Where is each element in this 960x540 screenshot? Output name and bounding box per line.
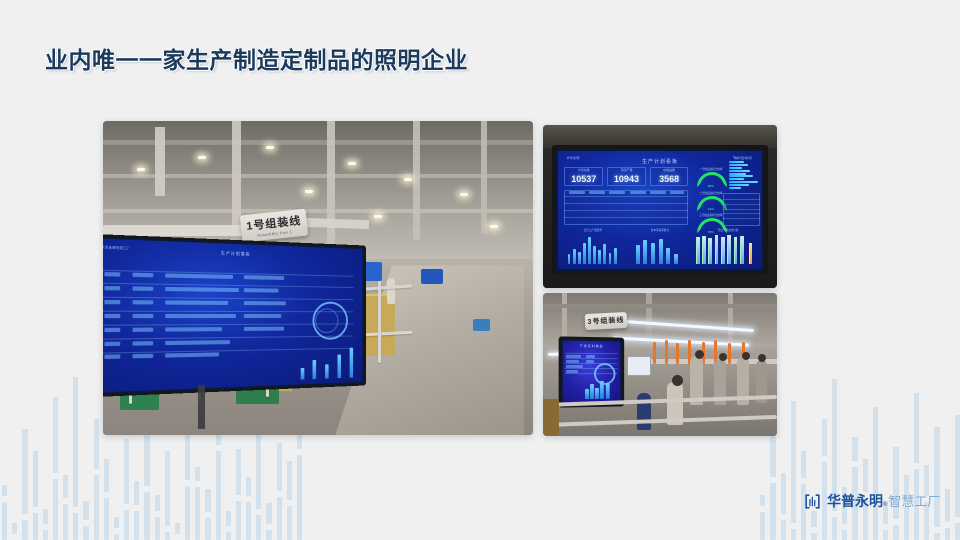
decorative-bar [124, 432, 129, 540]
decorative-bar [246, 470, 251, 540]
chart-right-title: 月度产能达成分析 [697, 228, 760, 232]
decorative-bar [236, 442, 241, 540]
decorative-bar [165, 444, 170, 540]
ceiling-light [374, 215, 382, 218]
decorative-bar [22, 422, 27, 540]
worker-head [672, 375, 683, 386]
kanban-screen: 华普永明 生产计划看板 计划总数 实际产量 在制品数 10537 10943 3… [552, 145, 767, 275]
decorative-bar [73, 370, 78, 540]
ceiling-light [460, 193, 468, 196]
fixture-arm [653, 342, 656, 365]
decorative-bar [33, 444, 38, 540]
hbar-title: 物料齐套率排行 [725, 156, 762, 160]
blue-crate [473, 319, 490, 332]
decorative-bar [893, 440, 898, 540]
kpi-value: 3568 [650, 174, 689, 184]
fixture-arm [728, 343, 731, 364]
decorative-bar [852, 430, 857, 540]
page-title: 业内唯一一家生产制造定制品的照明企业 [45, 41, 468, 75]
slide-canvas: 业内唯一一家生产制造定制品的照明企业 [0, 0, 960, 540]
kpi-label: 在制品数 [650, 168, 689, 172]
decorative-bar [134, 474, 139, 540]
decorative-bar [914, 386, 919, 540]
fixture-arm [676, 343, 679, 364]
decorative-bar [832, 372, 837, 540]
line-dashboard-screen: 产线实时看板 [559, 337, 624, 408]
worker-head [742, 352, 750, 360]
kpi-value: 10943 [607, 174, 646, 184]
decorative-bar [216, 424, 221, 540]
ceiling-light [404, 178, 412, 181]
worker-head [719, 353, 727, 361]
decorative-bar [781, 466, 786, 540]
ceiling-light [137, 168, 145, 171]
ceiling-light [490, 225, 498, 228]
decorative-bar [104, 452, 109, 540]
decorative-bar [287, 454, 292, 540]
kpi-label: 计划总数 [564, 168, 603, 172]
hbar-chart [729, 161, 759, 189]
decorative-bars-right [760, 360, 960, 540]
chart-mid-title: 各车间良率统计 [632, 228, 689, 232]
decorative-bar [934, 420, 939, 540]
decorative-bar [114, 510, 119, 540]
brand-subtitle: 智慧工厂 [888, 491, 940, 510]
decorative-bar [770, 422, 775, 540]
decorative-bar [760, 488, 765, 540]
worker-figure [387, 278, 395, 304]
decorative-bar [822, 412, 827, 540]
decorative-bar [873, 400, 878, 540]
photo-production-kanban-big-screen: 华普永明 生产计划看板 计划总数 实际产量 在制品数 10537 10943 3… [543, 125, 777, 288]
fixture-arm [665, 340, 668, 364]
decorative-bar [175, 516, 180, 540]
kpi-label: 实际产量 [607, 168, 646, 172]
decorative-bar [43, 502, 48, 540]
ceiling-column [481, 121, 487, 234]
ceiling-column [413, 121, 420, 240]
ceiling-beam [103, 174, 533, 178]
assembly-line-sign-label: 3号组装线 [587, 315, 624, 327]
decorative-bar [226, 504, 231, 540]
ceiling-beam [103, 140, 533, 145]
footer-logo: 华普永明 ® 智慧工厂 [803, 491, 940, 511]
blue-crate [421, 269, 443, 285]
decorative-bar [155, 488, 160, 540]
overhead-duct [103, 225, 258, 236]
brand-lockup: 华普永明 ® 智慧工厂 [827, 491, 940, 511]
ceiling-light [348, 162, 356, 165]
kpi-value: 10537 [564, 174, 603, 184]
production-dashboard-screen: 华普永明智慧工厂 生产计划看板 [103, 234, 366, 398]
decorative-bar [266, 496, 271, 540]
brand-name: 华普永明 [827, 491, 883, 511]
ceiling-light [198, 156, 206, 159]
chart-left-title: 近七日产量趋势 [564, 228, 621, 232]
decorative-bar [83, 494, 88, 540]
green-crate [120, 394, 159, 410]
gauge-label: 一号线设备综合效率 [693, 167, 730, 171]
decorative-bar [945, 482, 950, 540]
chart-mid [634, 233, 689, 264]
decorative-bar [195, 460, 200, 540]
decorative-bar [12, 516, 17, 540]
wood-panel [543, 399, 559, 436]
safety-post [378, 281, 381, 363]
screen-stand [198, 385, 205, 429]
tablet-terminal[interactable] [627, 356, 650, 376]
decorative-bar [63, 468, 68, 540]
decorative-bar [791, 394, 796, 540]
gauge-value: 86% [693, 184, 730, 188]
line-gauge-ring [594, 363, 616, 385]
decorative-bar [955, 408, 960, 540]
chart-left [566, 233, 623, 264]
ceiling-beam [103, 209, 533, 213]
ceiling-column [155, 127, 165, 196]
decorative-bar [53, 390, 58, 540]
decorative-bar [277, 436, 282, 540]
photo-factory-assembly-line-overview: 1号组装线 Assembly line 1 [103, 121, 533, 435]
line-screen-title: 产线实时看板 [563, 344, 620, 349]
ceiling-beam [543, 304, 777, 308]
ceiling-column [232, 121, 241, 228]
decorative-bar [94, 412, 99, 540]
decorative-bar [2, 478, 7, 540]
huapu-brackets-icon [803, 492, 822, 511]
brand-registered-mark: ® [883, 502, 887, 508]
ceiling-light [266, 146, 274, 149]
screen-title: 生产计划看板 [103, 246, 363, 262]
column [728, 293, 733, 347]
assembly-line-sign: 3号组装线 [585, 312, 628, 330]
decorative-bar [205, 482, 210, 540]
photo-workers-at-assembly-line: 3号组装线 产线实时看板 [543, 293, 777, 436]
ceiling-light [305, 190, 313, 193]
chart-right [695, 233, 758, 264]
